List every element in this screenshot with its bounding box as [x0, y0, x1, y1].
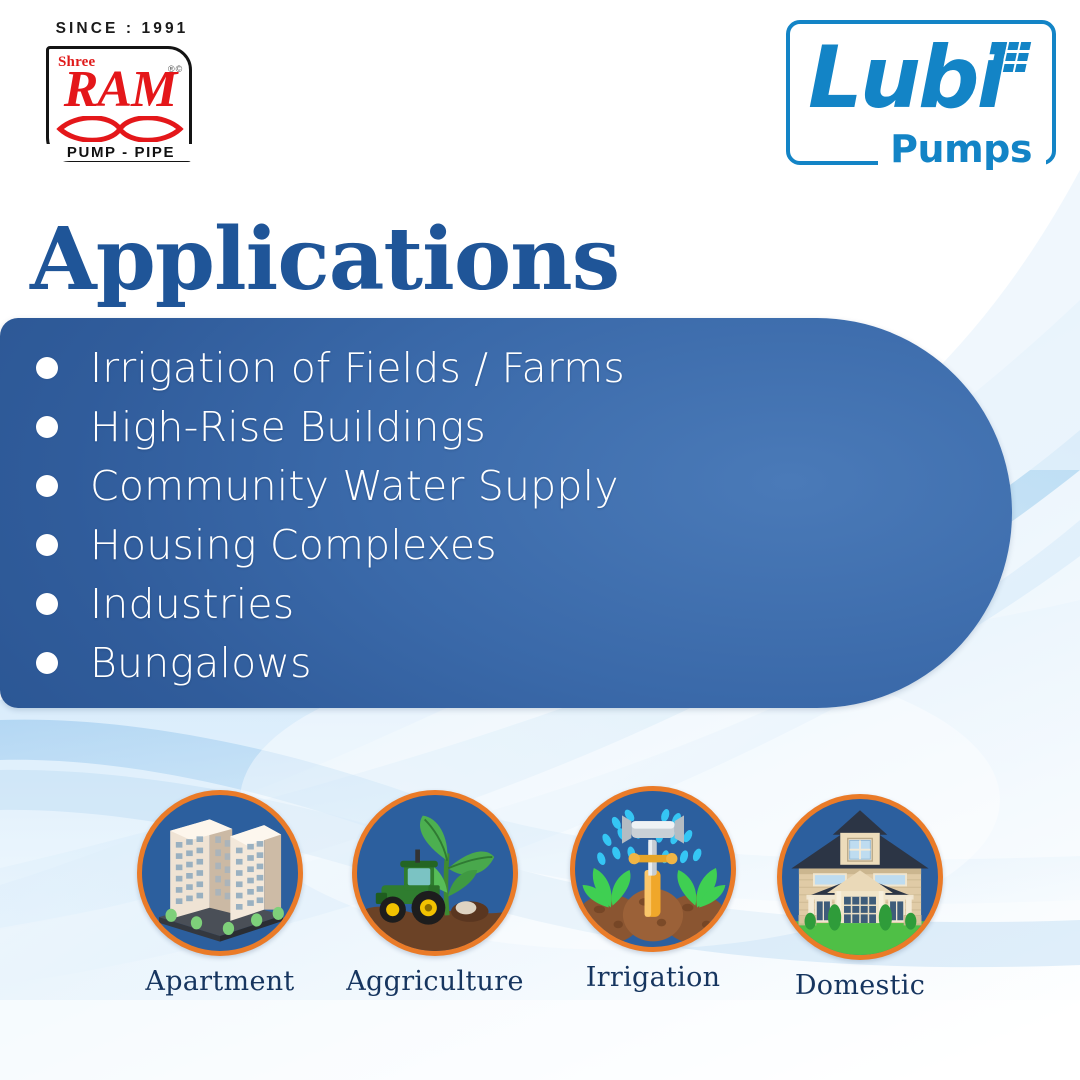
list-item: Bungalows: [30, 633, 910, 692]
icon-item-domestic: Domestic: [760, 794, 960, 1001]
list-item: Irrigation of Fields / Farms: [30, 338, 910, 397]
bullet-dot-icon: [36, 593, 58, 615]
lubi-wordmark: Lubi: [808, 30, 1003, 126]
list-item-label: Irrigation of Fields / Farms: [90, 346, 625, 390]
tractor-plant-icon: [357, 795, 513, 951]
list-item-label: Community Water Supply: [90, 464, 619, 508]
pump-pipe-text: PUMP - PIPE: [46, 144, 196, 161]
list-item-label: High-Rise Buildings: [90, 405, 486, 449]
since-text: SINCE : 1991: [22, 20, 222, 38]
lubi-grid-dots-icon: [991, 42, 1031, 72]
agriculture-circle: [352, 790, 518, 956]
icon-label-irrigation: Irrigation: [553, 962, 753, 993]
icon-item-irrigation: Irrigation: [553, 786, 753, 993]
apartment-circle: [137, 790, 303, 956]
domestic-circle: [777, 794, 943, 960]
applications-poster: SINCE : 1991 Shree RAM ®© PUMP - PIPE Lu…: [0, 0, 1080, 1080]
ram-swirl-ornament: [56, 116, 184, 142]
list-item-label: Bungalows: [90, 641, 312, 685]
bullet-dot-icon: [36, 534, 58, 556]
house-icon: [782, 799, 938, 955]
sprinkler-icon: [575, 791, 731, 947]
icon-label-domestic: Domestic: [760, 970, 960, 1001]
list-item-label: Industries: [90, 582, 294, 626]
list-item: Community Water Supply: [30, 456, 910, 515]
shree-ram-pump-pipe-logo: SINCE : 1991 Shree RAM ®© PUMP - PIPE: [22, 20, 222, 170]
list-item: Industries: [30, 574, 910, 633]
list-item: High-Rise Buildings: [30, 397, 910, 456]
page-title: Applications: [30, 212, 619, 308]
pumps-text: Pumps: [882, 127, 1040, 171]
icon-label-agriculture: Aggriculture: [335, 966, 535, 997]
applications-list: Irrigation of Fields / Farms High-Rise B…: [30, 338, 910, 692]
list-item: Housing Complexes: [30, 515, 910, 574]
irrigation-circle: [570, 786, 736, 952]
apartment-buildings-icon: [142, 795, 298, 951]
application-icons-row: Apartment: [0, 790, 1080, 1030]
icon-item-agriculture: Aggriculture: [335, 790, 535, 997]
applications-panel: Irrigation of Fields / Farms High-Rise B…: [0, 318, 1012, 708]
bullet-dot-icon: [36, 416, 58, 438]
icon-label-apartment: Apartment: [120, 966, 320, 997]
icon-item-apartment: Apartment: [120, 790, 320, 997]
trademark-mark: ®©: [168, 64, 183, 74]
list-item-label: Housing Complexes: [90, 523, 497, 567]
bullet-dot-icon: [36, 357, 58, 379]
bullet-dot-icon: [36, 475, 58, 497]
header: SINCE : 1991 Shree RAM ®© PUMP - PIPE Lu…: [0, 0, 1080, 200]
bullet-dot-icon: [36, 652, 58, 674]
lubi-pumps-logo: Lubi Pumps: [786, 20, 1056, 165]
